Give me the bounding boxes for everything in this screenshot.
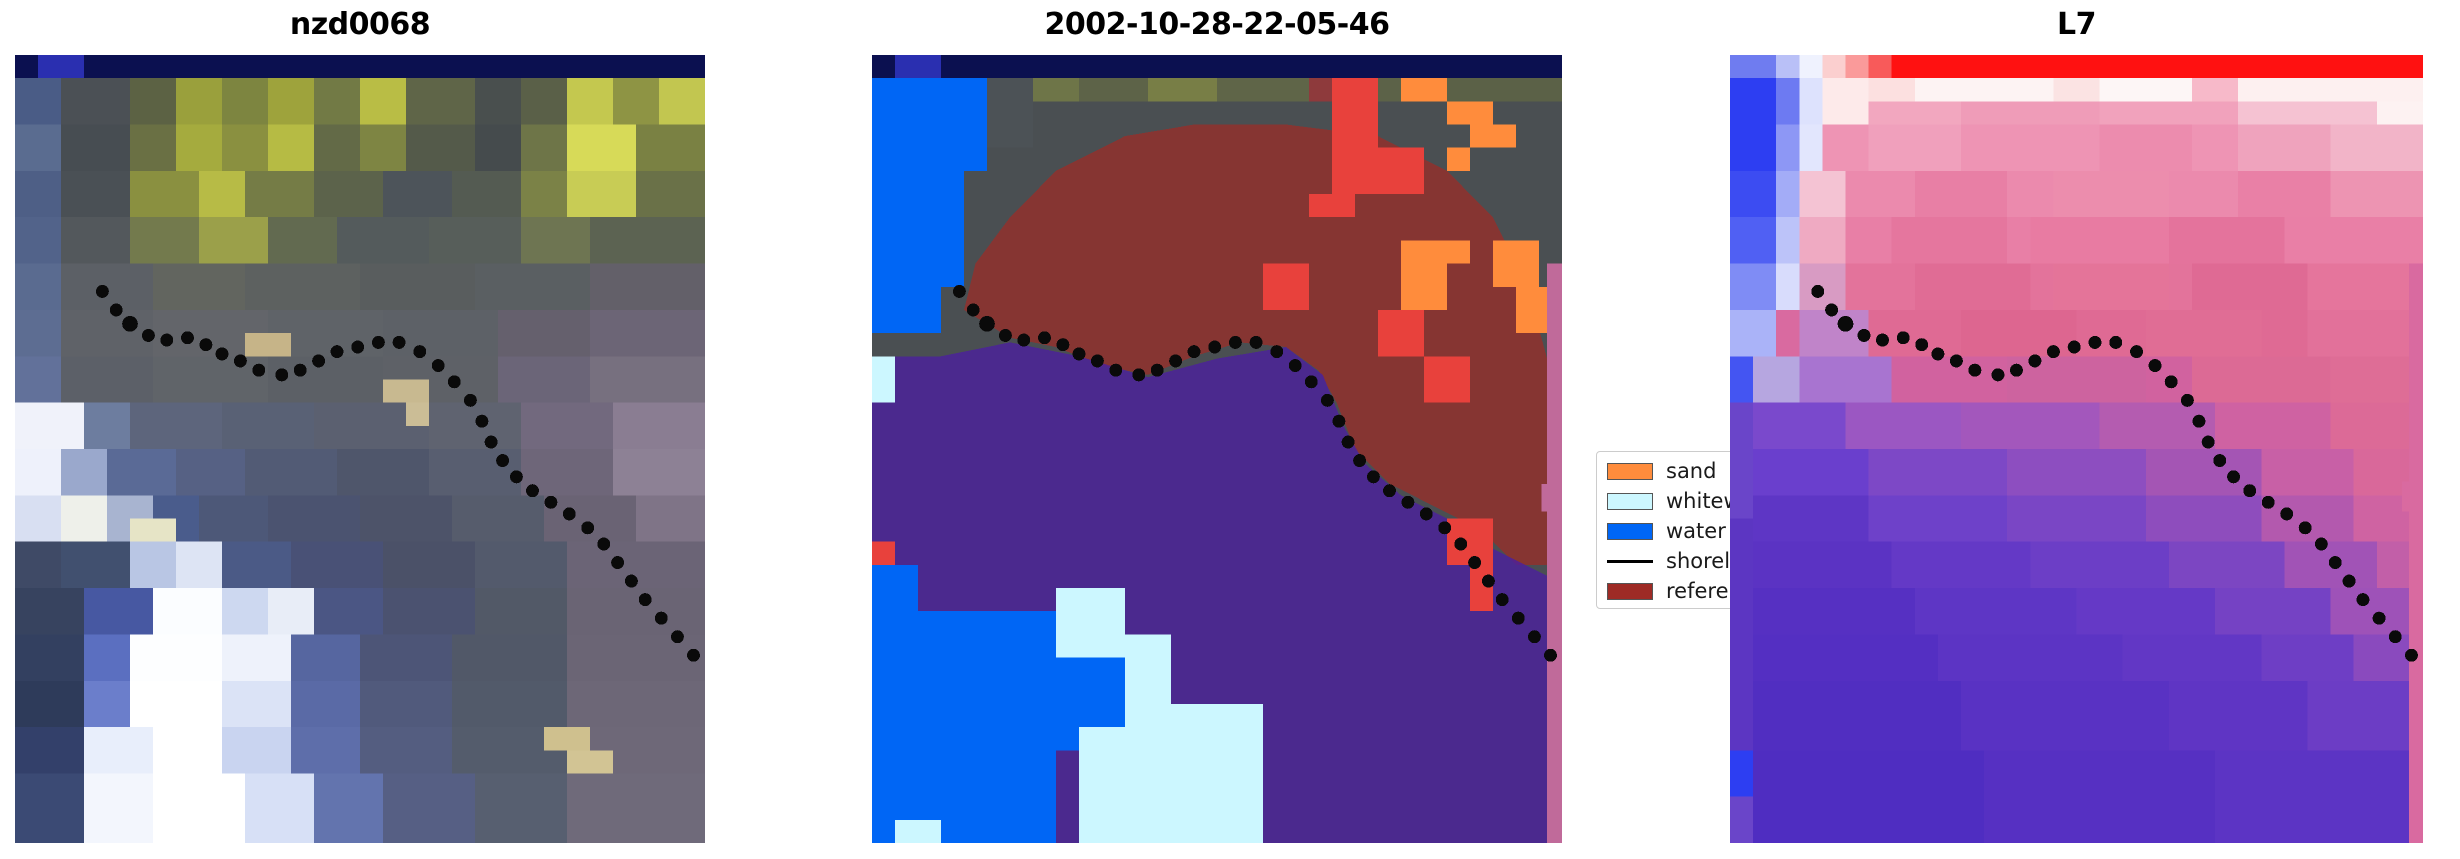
panel-classification-title: 2002-10-28-22-05-46 — [872, 10, 1562, 40]
legend: sand whitewater water shoreline referenc… — [1596, 451, 1730, 611]
classification-overlay-raster — [872, 55, 1562, 843]
panel-index: L7 — [1730, 10, 2423, 843]
panel-classification-axes — [872, 55, 1562, 843]
legend-item-reference[interactable]: reference — [1607, 578, 1730, 604]
legend-label-sand: sand — [1666, 459, 1716, 483]
legend-label-water: water — [1666, 519, 1726, 543]
reference-swatch-icon — [1607, 583, 1653, 600]
whitewater-swatch-icon — [1607, 493, 1653, 510]
panel-rgb-axes — [15, 55, 705, 843]
legend-item-shoreline[interactable]: shoreline — [1607, 548, 1730, 574]
legend-item-water[interactable]: water — [1607, 518, 1726, 544]
legend-label-shoreline: shoreline — [1666, 549, 1730, 573]
legend-label-whitewater: whitewater — [1666, 489, 1730, 513]
panel-index-title: L7 — [1730, 10, 2423, 40]
panel-rgb-title: nzd0068 — [15, 10, 705, 40]
water-swatch-icon — [1607, 523, 1653, 540]
rgb-satellite-raster — [15, 55, 705, 843]
legend-box: sand whitewater water shoreline referenc… — [1596, 451, 1730, 609]
panel-classification: 2002-10-28-22-05-46 — [872, 10, 1562, 843]
legend-item-whitewater[interactable]: whitewater — [1607, 488, 1730, 514]
figure-canvas: nzd0068 — [0, 0, 2460, 859]
legend-item-sand[interactable]: sand — [1607, 458, 1716, 484]
panel-rgb: nzd0068 — [15, 10, 705, 843]
panel-index-axes — [1730, 55, 2423, 843]
shoreline-line-icon — [1607, 560, 1653, 563]
index-colormap-raster — [1730, 55, 2423, 843]
legend-label-reference: reference — [1666, 579, 1730, 603]
sand-swatch-icon — [1607, 463, 1653, 480]
